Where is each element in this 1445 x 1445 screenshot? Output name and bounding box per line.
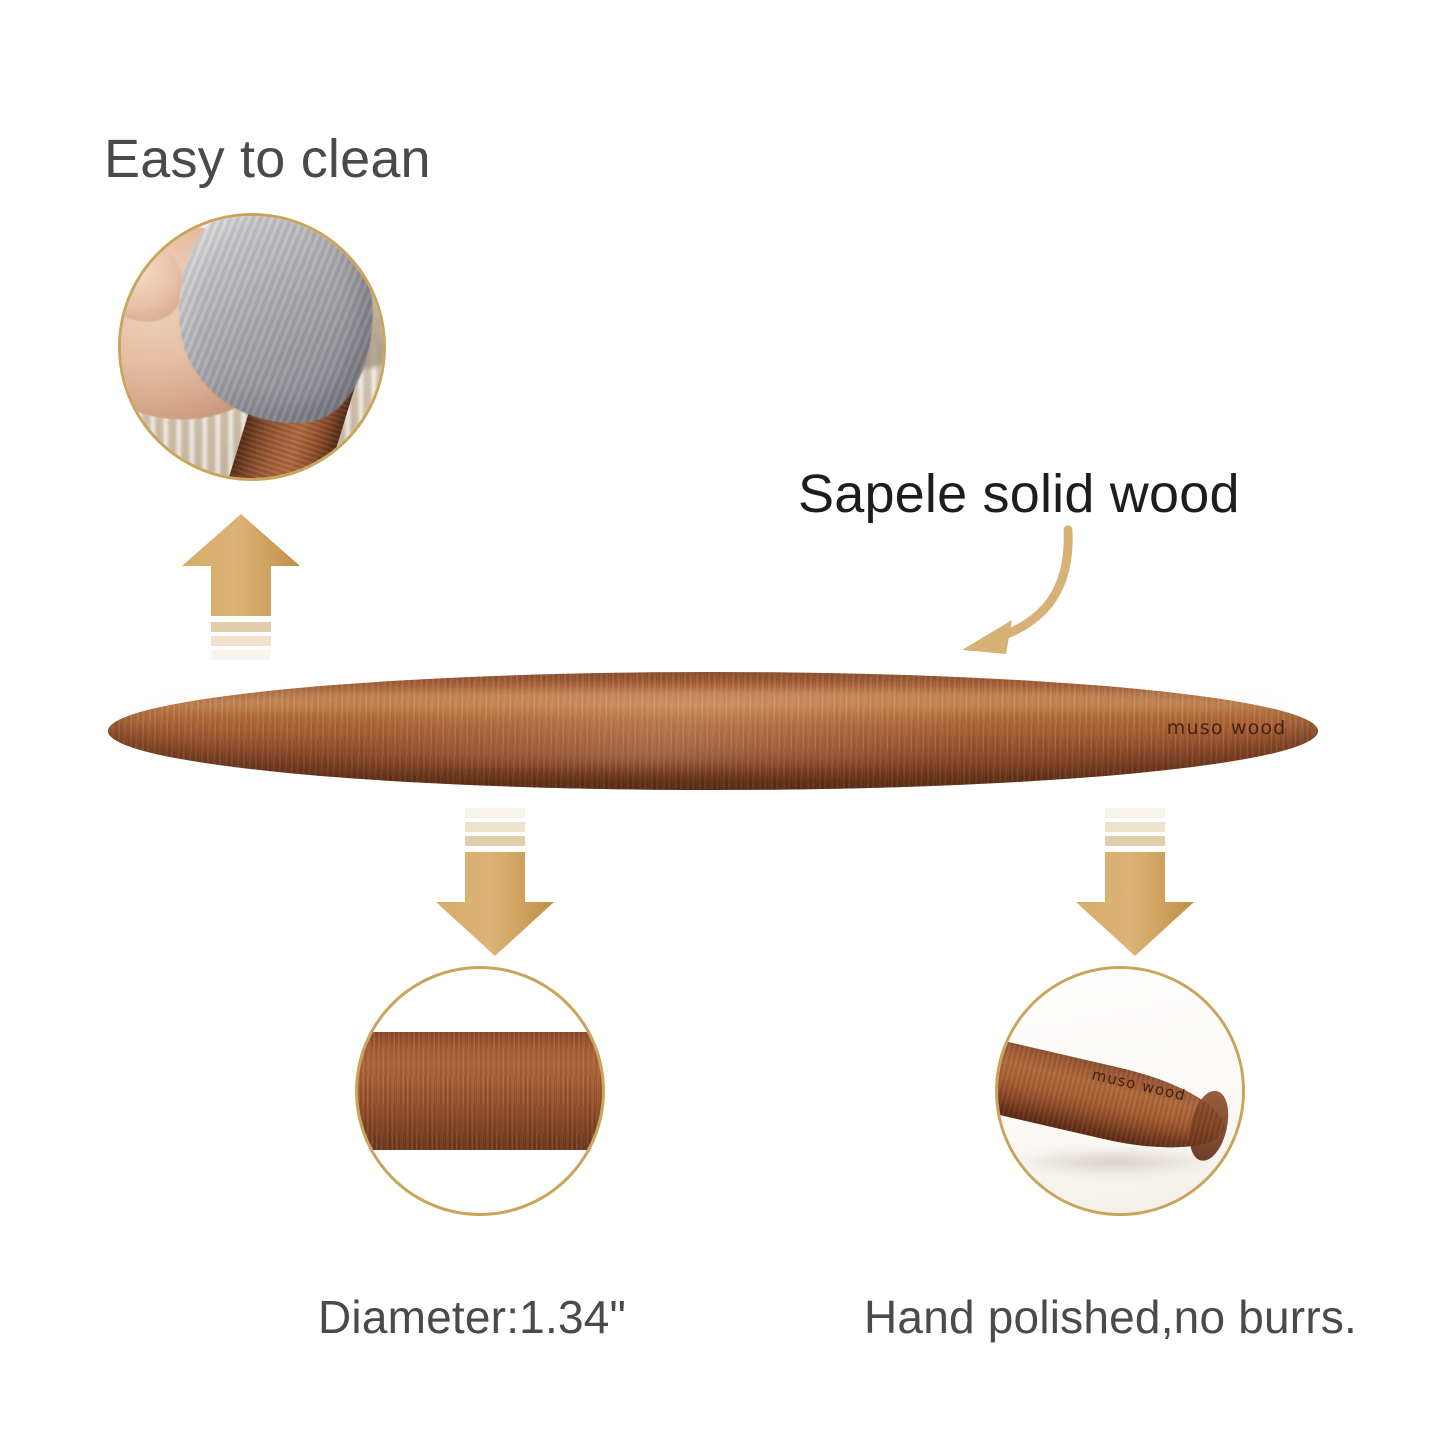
sapele-solid-wood-label: Sapele solid wood (798, 466, 1240, 523)
pin-barrel-closeup (355, 1032, 605, 1149)
polished-photo: muso wood (998, 969, 1242, 1213)
pin-drop-shadow (1008, 1150, 1218, 1174)
down-arrow-icon-right (1072, 806, 1198, 958)
brand-engraving: muso wood (1167, 717, 1287, 739)
polished-photo-circle: muso wood (995, 966, 1245, 1216)
easy-to-clean-label: Easy to clean (104, 131, 431, 188)
rolling-pin-product-image: muso wood (108, 672, 1318, 790)
pin-grain-swirl (357, 698, 1068, 766)
diameter-label: Diameter:1.34" (318, 1290, 626, 1344)
curved-arrow-icon (920, 524, 1120, 674)
diameter-photo (358, 969, 602, 1213)
diameter-photo-circle (355, 966, 605, 1216)
hand-polished-label: Hand polished,no burrs. (864, 1290, 1357, 1344)
easy-to-clean-photo (121, 216, 383, 478)
down-arrow-icon-left (432, 806, 558, 958)
easy-to-clean-photo-circle (118, 213, 386, 481)
infographic-canvas: Easy to clean (0, 0, 1445, 1445)
up-arrow-icon (178, 512, 304, 660)
